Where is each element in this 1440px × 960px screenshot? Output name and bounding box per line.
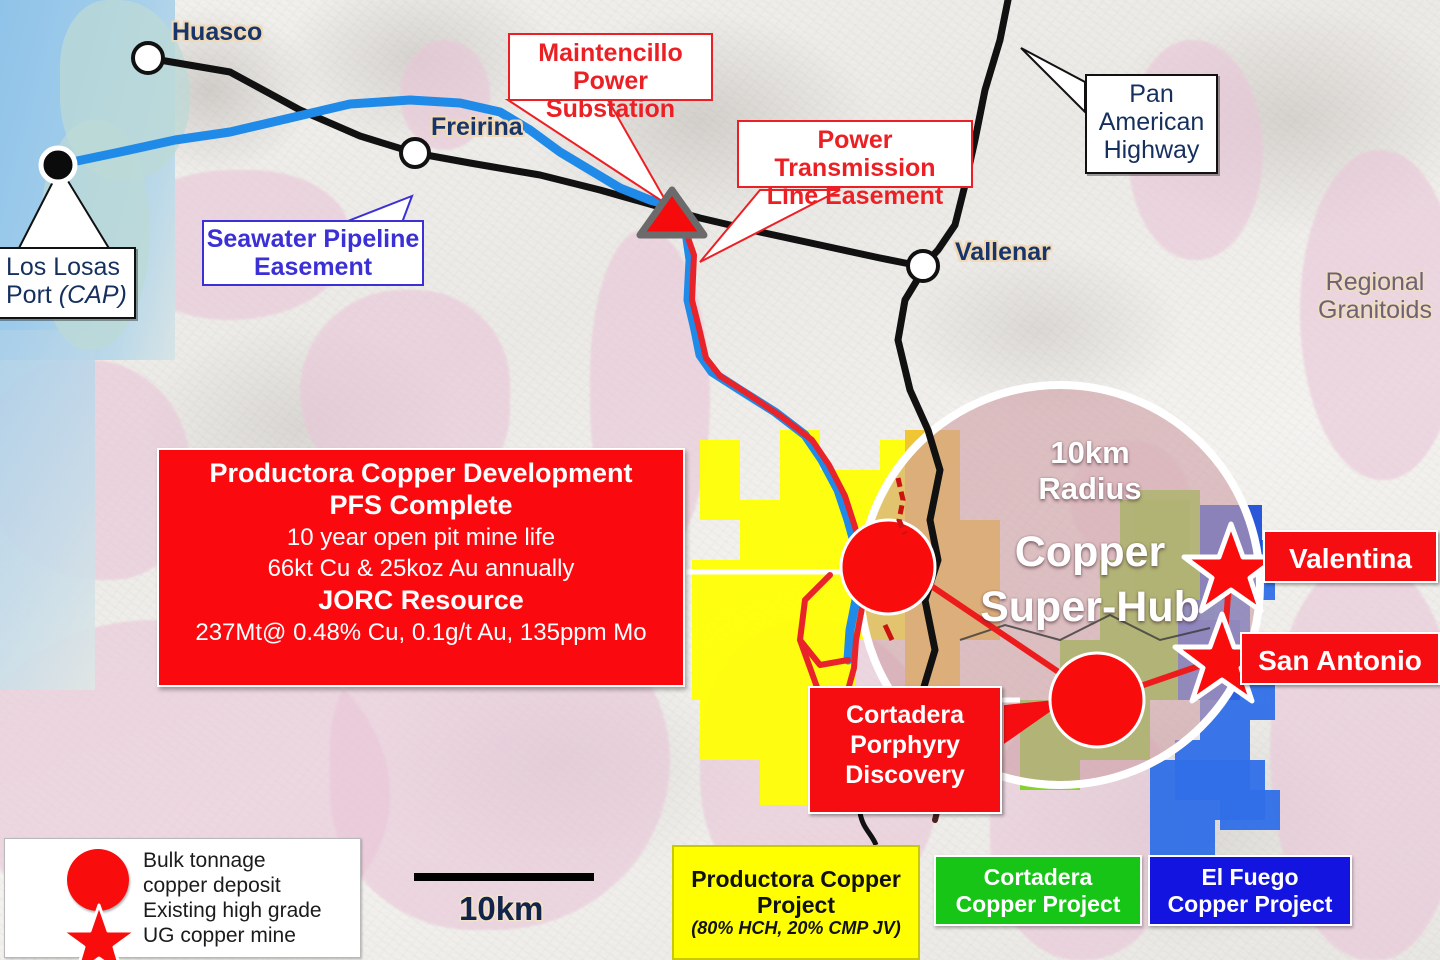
marker-freirina [401,139,429,167]
place-label-freirina: Freirina [431,113,523,142]
panam-line2: American [1087,108,1216,136]
panam-line3: Highway [1087,136,1216,164]
legend-mine-line2: UG copper mine [143,924,322,949]
callout-seawater-pipeline[interactable]: Seawater Pipeline Easement [202,220,424,286]
marker-huasco [133,43,163,73]
los-losas-line1: Los Losas [6,253,134,281]
legend-text-deposit: Bulk tonnage copper deposit [143,849,281,899]
deposit-productora [841,520,935,614]
los-losas-line2: Port (CAP) [6,281,134,309]
scale-bar-label: 10km [459,890,543,928]
legend-box-productora-copper-project[interactable]: Productora Copper Project (80% HCH, 20% … [672,845,920,960]
place-label-huasco: Huasco [172,18,262,47]
san-antonio-text: San Antonio [1258,645,1422,676]
pfs-bullet-3: 237Mt@ 0.48% Cu, 0.1g/t Au, 135ppm Mo [159,617,683,648]
legend-star-icon [59,901,139,960]
leader-pan-american [1021,48,1085,112]
place-label-vallenar: Vallenar [955,238,1051,267]
power-line1: Power Transmission [739,126,971,182]
map-legend: Bulk tonnage copper deposit Existing hig… [4,838,361,958]
scale-bar [414,873,594,881]
hub-title-line2: Super-Hub [940,580,1240,635]
seawater-line1: Seawater Pipeline [204,225,422,253]
pfs-bullet-2: 66kt Cu & 25koz Au annually [159,553,683,584]
label-valentina[interactable]: Valentina [1263,530,1438,583]
radius-line1: 10km [975,435,1205,471]
maintencillo-line1: Maintencillo [510,39,711,67]
callout-pan-american-highway[interactable]: Pan American Highway [1085,74,1218,174]
map-canvas: Huasco Freirina Vallenar Regional Granit… [0,0,1440,960]
legend-deposit-line1: Bulk tonnage [143,849,281,874]
cortadera-line2: Porphyry [810,730,1000,760]
legend-deposit-line2: copper deposit [143,874,281,899]
panam-line1: Pan [1087,80,1216,108]
deposit-cortadera [1050,653,1144,747]
pfs-heading-3: JORC Resource [159,584,683,616]
pfs-summary-panel[interactable]: Productora Copper Development PFS Comple… [157,448,685,687]
valentina-text: Valentina [1289,543,1412,574]
leader-cortadera-tail [860,812,876,845]
cortadera-line3: Discovery [810,760,1000,790]
productora-legend-line1: Productora Copper [674,866,918,892]
legend-box-el-fuego-copper-project[interactable]: El Fuego Copper Project [1148,855,1352,926]
super-hub-title: Copper Super-Hub [940,525,1240,635]
productora-legend-note: (80% HCH, 20% CMP JV) [674,918,918,939]
callout-maintencillo-substation[interactable]: Maintencillo Power Substation [508,33,713,101]
cortadera-legend-line1: Cortadera [936,864,1140,890]
marker-los-losas-port [41,148,75,182]
elfuego-legend-line1: El Fuego [1150,864,1350,890]
maintencillo-line2: Power Substation [510,67,711,123]
legend-text-mine: Existing high grade UG copper mine [143,899,322,949]
pfs-heading-1: Productora Copper Development [159,457,683,489]
tenement-elfuego-south [1150,760,1265,860]
elfuego-legend-line2: Copper Project [1150,891,1350,917]
marker-vallenar [908,251,938,281]
geology-label-regional-granitoids: Regional Granitoids [1305,268,1440,324]
pfs-bullet-1: 10 year open pit mine life [159,522,683,553]
granitoids-line2: Granitoids [1305,296,1440,324]
cortadera-legend-line2: Copper Project [936,891,1140,917]
radius-line2: Radius [975,471,1205,507]
legend-box-cortadera-copper-project[interactable]: Cortadera Copper Project [934,855,1142,926]
productora-legend-line2: Project [674,892,918,918]
legend-mine-line1: Existing high grade [143,899,322,924]
super-hub-radius-label: 10km Radius [975,435,1205,507]
granitoids-line1: Regional [1305,268,1440,296]
callout-power-transmission-line[interactable]: Power Transmission Line Easement [737,120,973,188]
power-line2: Line Easement [739,182,971,210]
label-cortadera-porphyry-discovery[interactable]: Cortadera Porphyry Discovery [808,686,1002,814]
callout-los-losas-port[interactable]: Los Losas Port (CAP) [0,247,136,319]
seawater-line2: Easement [204,253,422,281]
hub-title-line1: Copper [940,525,1240,580]
pfs-heading-2: PFS Complete [159,489,683,521]
cortadera-line1: Cortadera [810,700,1000,730]
label-san-antonio[interactable]: San Antonio [1240,632,1440,685]
